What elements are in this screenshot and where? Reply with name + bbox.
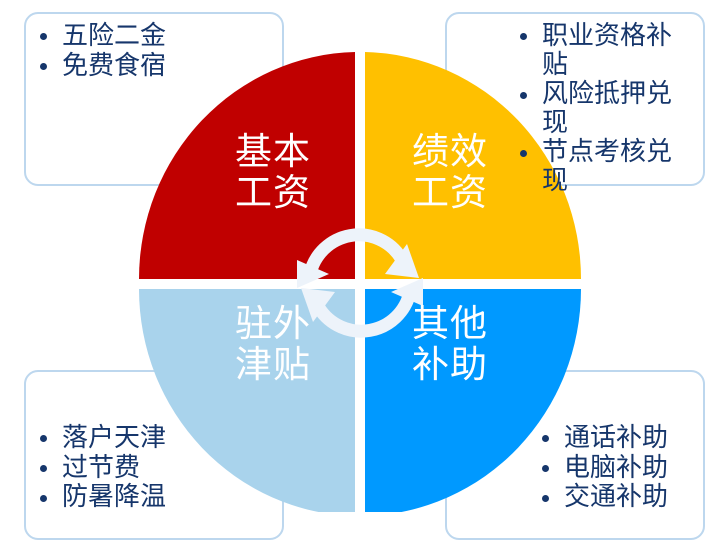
list-item-label: 电脑补助 [564,453,668,483]
list-item: 过节费 [38,454,268,483]
callout-list-other-subsidy: 通话补助 电脑补助 交通补助 [540,424,715,513]
callout-list-basic-salary: 五险二金 免费食宿 [38,22,198,81]
list-item: 落户天津 [38,424,268,453]
list-item-label: 落户天津 [62,423,166,453]
bullet-icon [40,33,47,40]
list-item: 风险抵押兑现 [518,80,693,137]
list-item-label: 节点考核兑现 [542,137,672,196]
list-item-label: 交通补助 [564,482,668,512]
list-item-label: 职业资格补贴 [542,21,672,80]
list-item-label: 过节费 [62,453,140,483]
bullet-icon [520,92,527,99]
list-item: 职业资格补贴 [518,22,693,79]
callout-list-performance-salary: 职业资格补贴 风险抵押兑现 节点考核兑现 [518,22,693,197]
list-item-label: 防暑降温 [62,482,166,512]
bullet-icon [520,150,527,157]
list-item: 五险二金 [38,22,198,51]
bullet-icon [542,495,549,502]
list-item-label: 免费食宿 [62,51,166,81]
bullet-icon [40,495,47,502]
bullet-icon [40,435,47,442]
callout-list-overseas-allowance: 落户天津 过节费 防暑降温 [38,424,268,513]
bullet-icon [542,435,549,442]
bullet-icon [40,63,47,70]
list-item: 节点考核兑现 [518,138,693,195]
bullet-icon [40,465,47,472]
diagram-canvas: 五险二金 免费食宿 职业资格补贴 风险抵押兑现 节点考核兑现 落户天津 过节费 … [0,0,721,554]
list-item-label: 通话补助 [564,423,668,453]
list-item: 电脑补助 [540,454,715,483]
quadrant-label-performance-salary: 绩效 工资 [390,132,510,213]
list-item: 防暑降温 [38,483,268,512]
quadrant-label-basic-salary: 基本 工资 [213,132,333,213]
list-item-label: 五险二金 [62,21,166,51]
quadrant-label-other-subsidy: 其他 补助 [390,304,510,385]
bullet-icon [520,33,527,40]
list-item: 交通补助 [540,483,715,512]
quadrant-label-overseas-allowance: 驻外 津贴 [213,304,333,385]
bullet-icon [542,465,549,472]
list-item: 免费食宿 [38,52,198,81]
list-item: 通话补助 [540,424,715,453]
list-item-label: 风险抵押兑现 [542,79,672,138]
